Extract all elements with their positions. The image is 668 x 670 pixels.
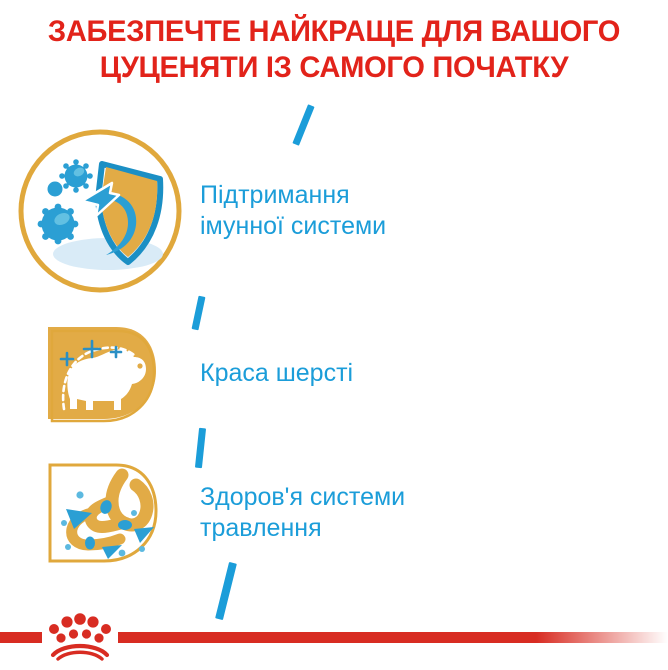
benefit-label-immune-support: Підтримання імунної системи (200, 180, 386, 242)
immune-shield-virus-icon (0, 121, 200, 301)
benefit-label-digestive-health: Здоров'я системи травлення (200, 482, 405, 544)
brand-footer (0, 600, 668, 670)
benefit-label-digestion-line-1: Здоров'я системи (200, 483, 405, 511)
dog-coat-shield-icon (0, 313, 200, 433)
benefit-label-digestion-line-2: травлення (200, 514, 322, 542)
benefit-label-immune-line-2: імунної системи (200, 212, 386, 240)
brand-bar-right (118, 632, 668, 643)
royal-canin-crown-logo (44, 611, 116, 661)
benefit-item-digestive-health: Здоров'я системи травлення (0, 443, 668, 583)
stomach-digestion-shield-icon (0, 451, 200, 576)
benefit-label-coat-line-1: Краса шерсті (200, 359, 353, 387)
benefit-label-coat-beauty: Краса шерсті (200, 358, 353, 389)
page-title-line-1: ЗАБЕЗПЕЧТЕ НАЙКРАЩЕ ДЛЯ ВАШОГО (10, 14, 658, 50)
benefits-list: Підтримання імунної системи (0, 118, 668, 583)
page-title: ЗАБЕЗПЕЧТЕ НАЙКРАЩЕ ДЛЯ ВАШОГО ЦУЦЕНЯТИ … (10, 14, 658, 86)
benefit-item-immune-support: Підтримання імунної системи (0, 118, 668, 303)
page-title-line-2: ЦУЦЕНЯТИ ІЗ САМОГО ПОЧАТКУ (10, 50, 658, 86)
benefit-item-coat-beauty: Краса шерсті (0, 303, 668, 443)
promo-panel: ЗАБЕЗПЕЧТЕ НАЙКРАЩЕ ДЛЯ ВАШОГО ЦУЦЕНЯТИ … (0, 0, 668, 670)
brand-bar-left (0, 632, 42, 643)
benefit-label-immune-line-1: Підтримання (200, 181, 350, 209)
